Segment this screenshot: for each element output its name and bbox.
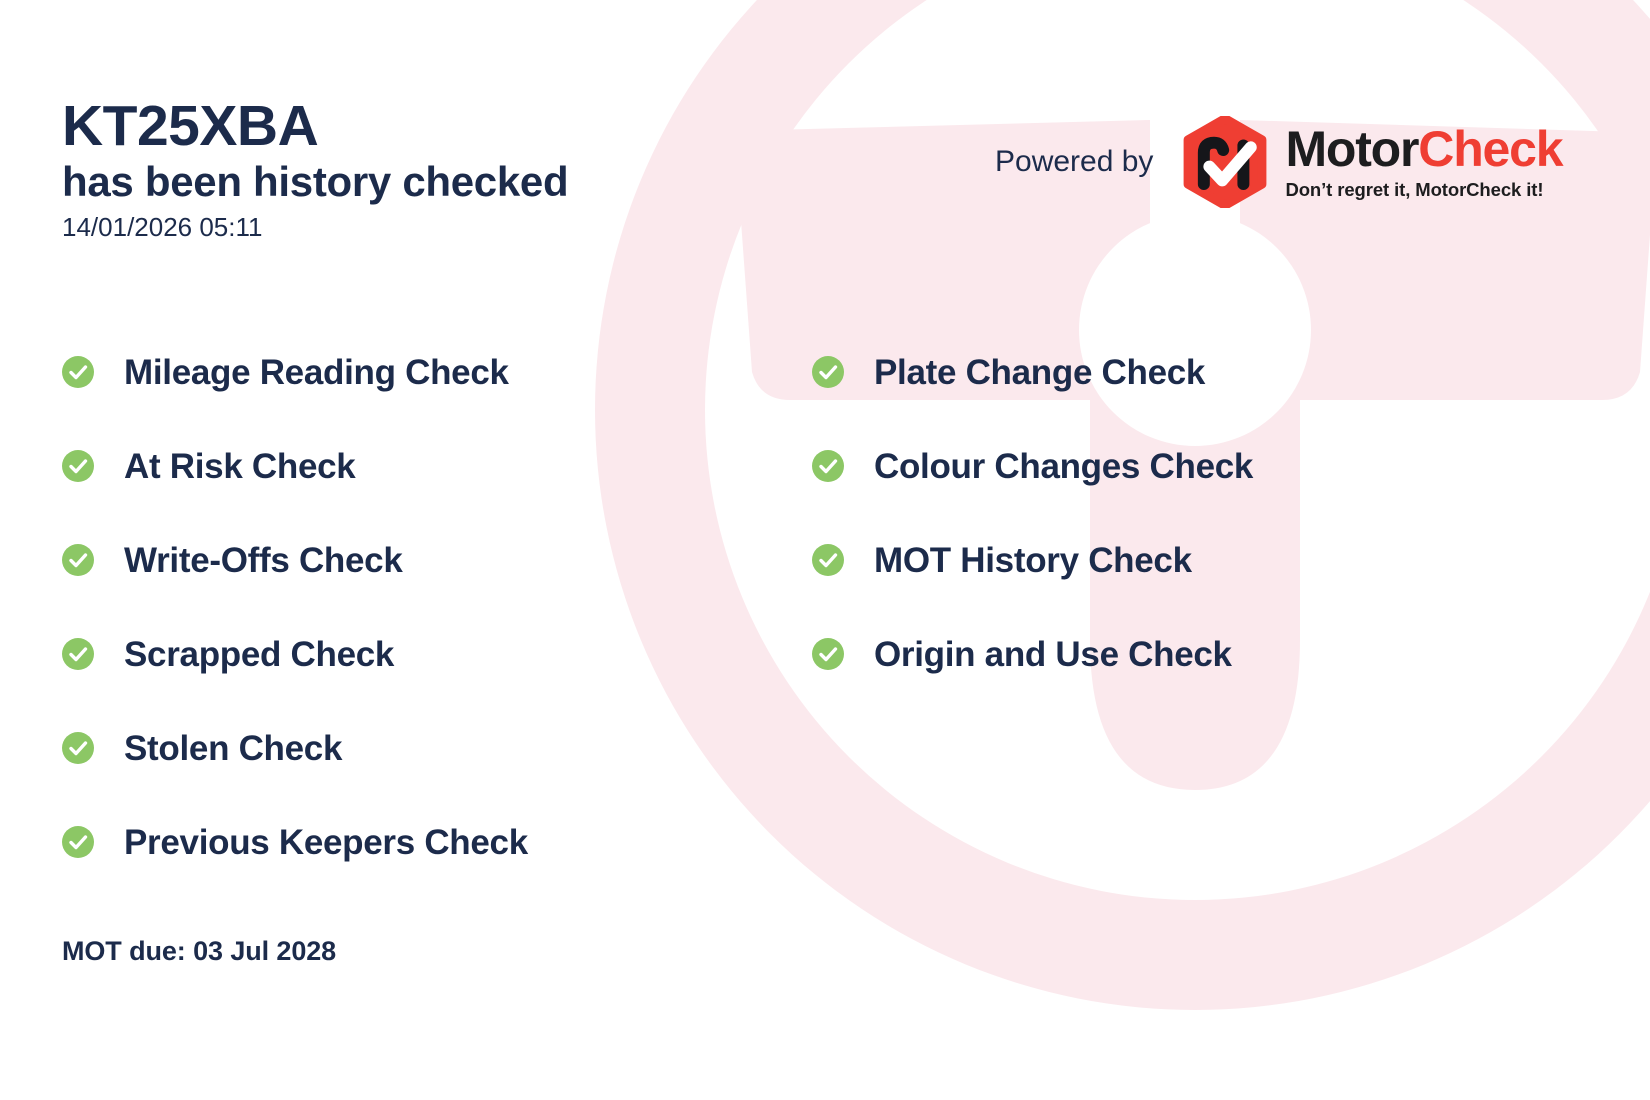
check-timestamp: 14/01/2026 05:11	[62, 211, 568, 244]
check-list-item-label: Colour Changes Check	[874, 449, 1253, 484]
check-list-item-label: Stolen Check	[124, 731, 342, 766]
check-list-item: Previous Keepers Check	[62, 795, 528, 889]
motorcheck-wordmark: MotorCheck Don’t regret it, MotorCheck i…	[1285, 124, 1562, 200]
check-list-item-label: MOT History Check	[874, 543, 1192, 578]
check-circle-icon	[62, 826, 94, 858]
check-list-item: Colour Changes Check	[812, 419, 1253, 513]
check-list-item-label: Mileage Reading Check	[124, 355, 509, 390]
check-list-item: Origin and Use Check	[812, 607, 1253, 701]
vehicle-registration: KT25XBA	[62, 96, 568, 156]
check-circle-icon	[812, 356, 844, 388]
page-title-block: KT25XBA has been history checked 14/01/2…	[62, 96, 568, 244]
check-list-item: Write-Offs Check	[62, 513, 528, 607]
check-list-item: At Risk Check	[62, 419, 528, 513]
motorcheck-hexagon-icon	[1179, 116, 1271, 208]
check-list-item: MOT History Check	[812, 513, 1253, 607]
check-list-item: Scrapped Check	[62, 607, 528, 701]
vehicle-history-check-card: KT25XBA has been history checked 14/01/2…	[0, 0, 1650, 1100]
check-list-item-label: Plate Change Check	[874, 355, 1205, 390]
check-circle-icon	[62, 638, 94, 670]
check-status-headline: has been history checked	[62, 158, 568, 205]
check-circle-icon	[812, 544, 844, 576]
check-circle-icon	[812, 450, 844, 482]
wordmark-motor: Motor	[1285, 121, 1418, 177]
check-list-item: Mileage Reading Check	[62, 325, 528, 419]
check-circle-icon	[812, 638, 844, 670]
check-list-item-label: Write-Offs Check	[124, 543, 403, 578]
powered-by-branding: Powered by MotorCheck Don’t regret it, M…	[995, 116, 1562, 208]
powered-by-label: Powered by	[995, 145, 1153, 179]
check-list-item-label: Scrapped Check	[124, 637, 394, 672]
check-list-item: Stolen Check	[62, 701, 528, 795]
check-circle-icon	[62, 356, 94, 388]
mot-due-note: MOT due: 03 Jul 2028	[62, 936, 336, 967]
check-list-item-label: At Risk Check	[124, 449, 355, 484]
check-circle-icon	[62, 732, 94, 764]
check-list-item-label: Origin and Use Check	[874, 637, 1232, 672]
check-circle-icon	[62, 450, 94, 482]
check-list-right: Plate Change Check Colour Changes Check …	[812, 325, 1253, 701]
brand-tagline: Don’t regret it, MotorCheck it!	[1285, 181, 1562, 200]
wordmark-text: MotorCheck	[1285, 124, 1562, 174]
check-list-item-label: Previous Keepers Check	[124, 825, 528, 860]
check-list-item: Plate Change Check	[812, 325, 1253, 419]
check-circle-icon	[62, 544, 94, 576]
wordmark-check: Check	[1418, 121, 1562, 177]
check-list-left: Mileage Reading Check At Risk Check Writ…	[62, 325, 528, 889]
